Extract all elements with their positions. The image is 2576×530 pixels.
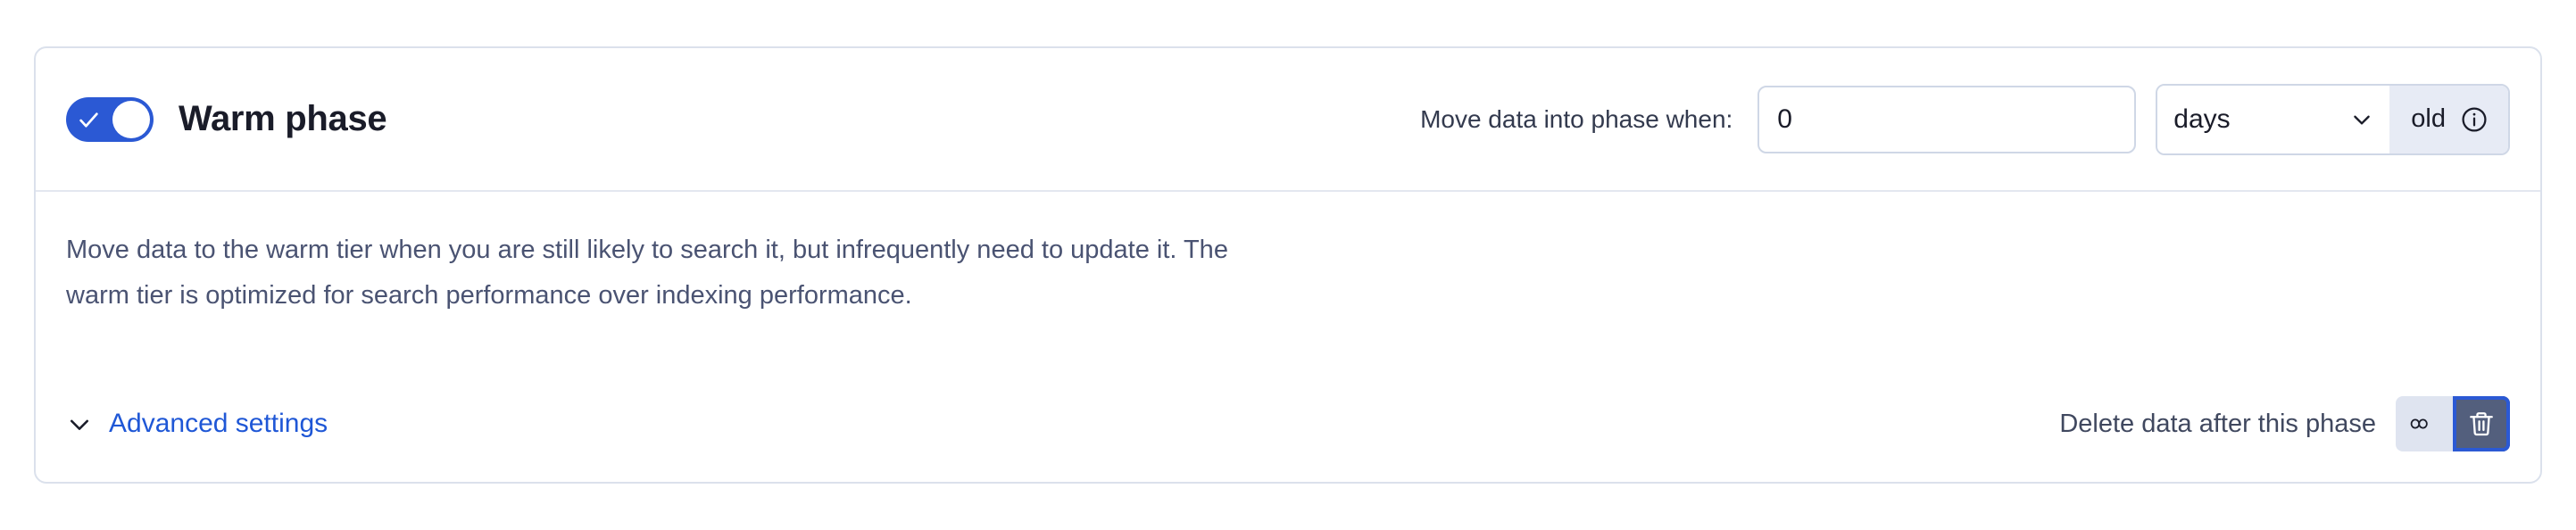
advanced-settings-toggle[interactable]: Advanced settings — [66, 409, 328, 439]
min-age-unit-select[interactable]: days — [2157, 86, 2389, 153]
phase-description: Move data to the warm tier when you are … — [66, 228, 1298, 319]
trash-icon — [2467, 410, 2496, 438]
page-title: Warm phase — [179, 99, 386, 139]
infinity-icon — [2409, 409, 2439, 439]
min-age-input[interactable] — [1757, 86, 2136, 153]
advanced-settings-label: Advanced settings — [109, 409, 328, 439]
delete-data-button-group — [2396, 396, 2510, 451]
phase-header: Warm phase Move data into phase when: da… — [36, 48, 2540, 192]
info-circle-icon[interactable] — [2460, 105, 2489, 134]
warm-phase-toggle[interactable] — [66, 97, 154, 142]
phase-header-left: Warm phase — [66, 97, 386, 142]
check-icon — [78, 109, 100, 131]
min-age-append-label: old — [2411, 104, 2446, 134]
min-age-unit-value: days — [2173, 104, 2230, 135]
chevron-down-icon — [2350, 108, 2373, 131]
phase-bottom-row: Advanced settings Delete data after this… — [66, 396, 2510, 451]
delete-data-area: Delete data after this phase — [2059, 396, 2510, 451]
keep-forever-button[interactable] — [2396, 396, 2453, 451]
phase-header-right: Move data into phase when: days old — [1420, 84, 2510, 155]
toggle-knob — [112, 101, 150, 138]
delete-data-button[interactable] — [2453, 396, 2510, 451]
warm-phase-card: Warm phase Move data into phase when: da… — [34, 46, 2542, 484]
min-age-label: Move data into phase when: — [1420, 105, 1733, 134]
chevron-down-icon — [66, 410, 93, 437]
min-age-append: old — [2389, 86, 2508, 153]
phase-body: Move data to the warm tier when you are … — [36, 192, 2540, 482]
min-age-unit-group: days old — [2156, 84, 2510, 155]
delete-data-label: Delete data after this phase — [2059, 410, 2376, 439]
